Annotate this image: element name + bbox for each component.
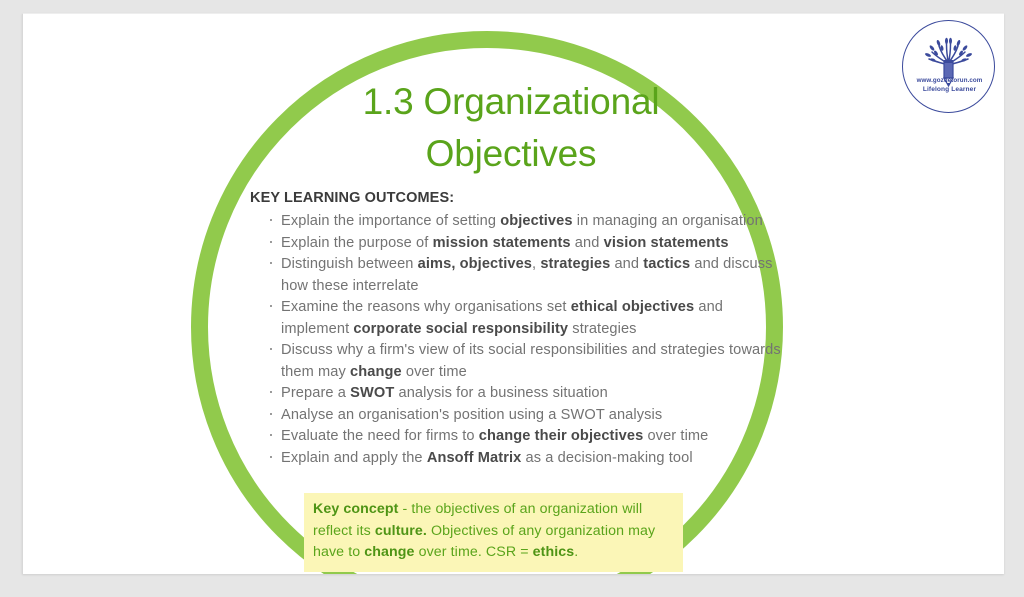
- learning-outcome-item: Explain and apply the Ansoff Matrix as a…: [268, 448, 790, 470]
- learning-outcome-item: Explain the importance of setting object…: [268, 211, 790, 233]
- brand-logo: www.gozdetorun.com Lifelong Learner: [902, 20, 995, 113]
- learning-outcomes-section: KEY LEARNING OUTCOMES: Explain the impor…: [250, 190, 790, 469]
- slide-title: 1.3 Organizational Objectives: [281, 76, 741, 180]
- key-concept-callout: Key concept - the objectives of an organ…: [304, 493, 683, 572]
- learning-outcome-item: Analyse an organisation's position using…: [268, 405, 790, 427]
- learning-outcome-item: Discuss why a firm's view of its social …: [268, 340, 790, 383]
- learning-outcome-item: Explain the purpose of mission statement…: [268, 233, 790, 255]
- logo-url-text: www.gozdetorun.com: [903, 77, 996, 84]
- screenshot-viewport: 1.3 Organizational Objectives KEY LEARNI…: [0, 0, 1024, 597]
- logo-tagline-text: Lifelong Learner: [903, 86, 996, 93]
- learning-outcome-item: Examine the reasons why organisations se…: [268, 297, 790, 340]
- learning-outcome-item: Distinguish between aims, objectives, st…: [268, 254, 790, 297]
- pencil-tree-icon: [903, 21, 994, 112]
- learning-outcome-item: Evaluate the need for firms to change th…: [268, 426, 790, 448]
- learning-outcomes-list: Explain the importance of setting object…: [250, 211, 790, 469]
- learning-outcomes-heading: KEY LEARNING OUTCOMES:: [250, 190, 790, 206]
- learning-outcome-item: Prepare a SWOT analysis for a business s…: [268, 383, 790, 405]
- presentation-slide: 1.3 Organizational Objectives KEY LEARNI…: [22, 13, 1004, 574]
